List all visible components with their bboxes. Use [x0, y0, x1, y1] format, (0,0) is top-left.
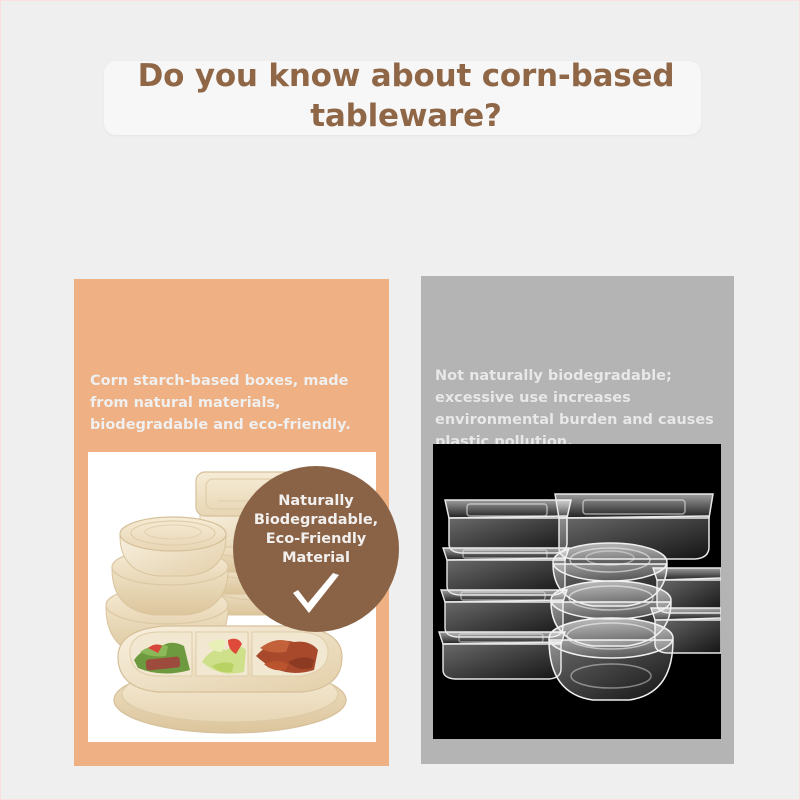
- plastic-tableware-illustration: [433, 444, 721, 739]
- right-panel-plastic: Not naturally biodegradable; excessive u…: [421, 276, 734, 764]
- right-panel-description: Not naturally biodegradable; excessive u…: [435, 365, 727, 453]
- eco-badge-label: Naturally Biodegradable, Eco-Friendly Ma…: [241, 492, 391, 567]
- infographic-canvas: Do you know about corn-based tableware? …: [0, 0, 800, 800]
- page-title: Do you know about corn-based tableware?: [96, 57, 716, 136]
- plastic-tableware-photo: [433, 444, 721, 739]
- eco-badge: Naturally Biodegradable, Eco-Friendly Ma…: [233, 466, 399, 632]
- left-panel-eco: Corn starch-based boxes, made from natur…: [74, 279, 389, 766]
- check-mark-icon: [289, 573, 343, 623]
- left-panel-description: Corn starch-based boxes, made from natur…: [90, 370, 376, 436]
